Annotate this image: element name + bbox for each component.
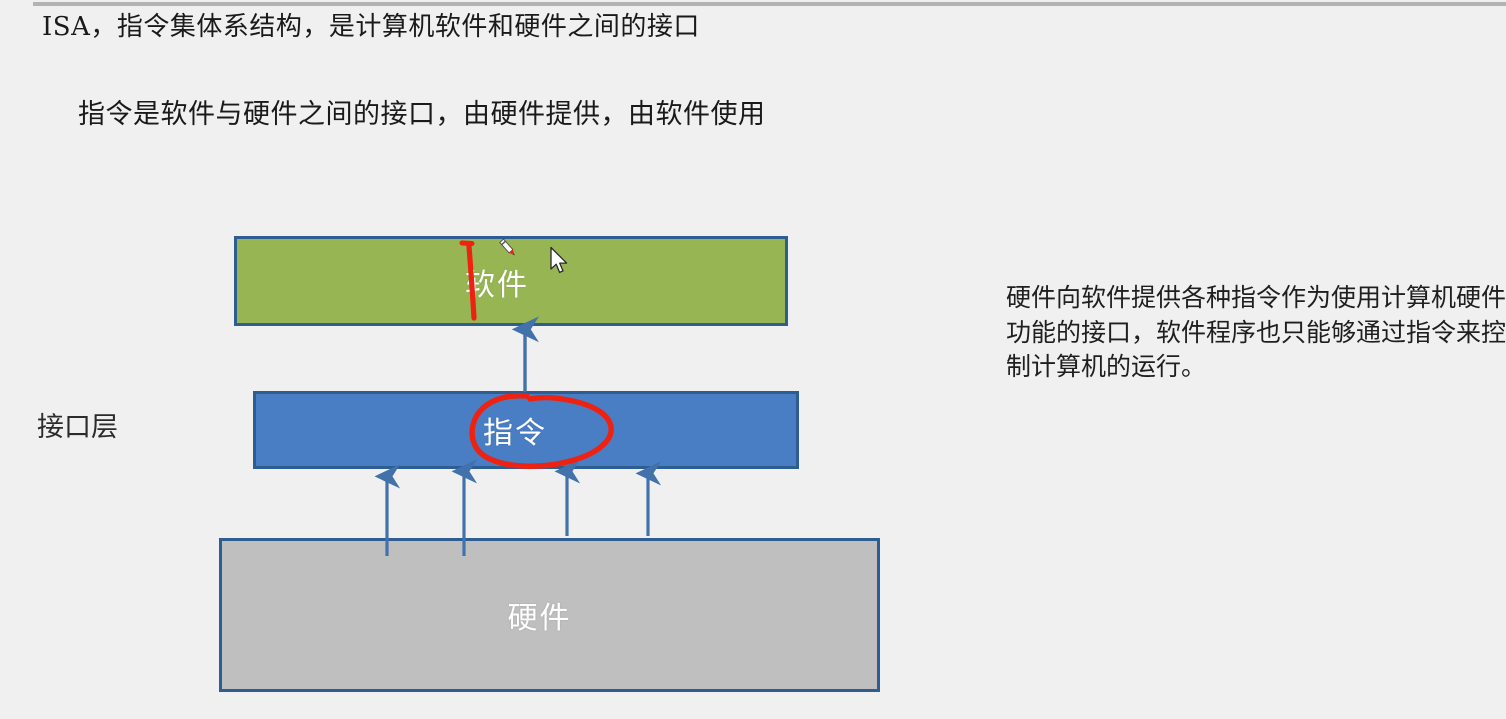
hardware-box[interactable]: 硬件 — [219, 538, 880, 692]
top-divider-rule — [33, 2, 1506, 6]
hardware-box-label: 硬件 — [508, 593, 572, 637]
software-box-label: 软件 — [465, 260, 529, 304]
mouse-pointer-icon — [549, 246, 571, 276]
page-title: ISA，指令集体系结构，是计算机软件和硬件之间的接口 — [42, 10, 700, 45]
instruction-box[interactable]: 指令 — [253, 391, 799, 469]
pen-cursor-icon — [496, 236, 522, 262]
subtitle-line: 指令是软件与硬件之间的接口，由硬件提供，由软件使用 — [78, 97, 766, 133]
explanation-paragraph: 硬件向软件提供各种指令作为使用计算机硬件功能的接口，软件程序也只能够通过指令来控… — [1006, 281, 1506, 385]
slide-canvas: ISA，指令集体系结构，是计算机软件和硬件之间的接口 指令是软件与硬件之间的接口… — [0, 0, 1506, 719]
instruction-box-label: 指令 — [483, 408, 547, 452]
interface-layer-label: 接口层 — [37, 405, 118, 444]
